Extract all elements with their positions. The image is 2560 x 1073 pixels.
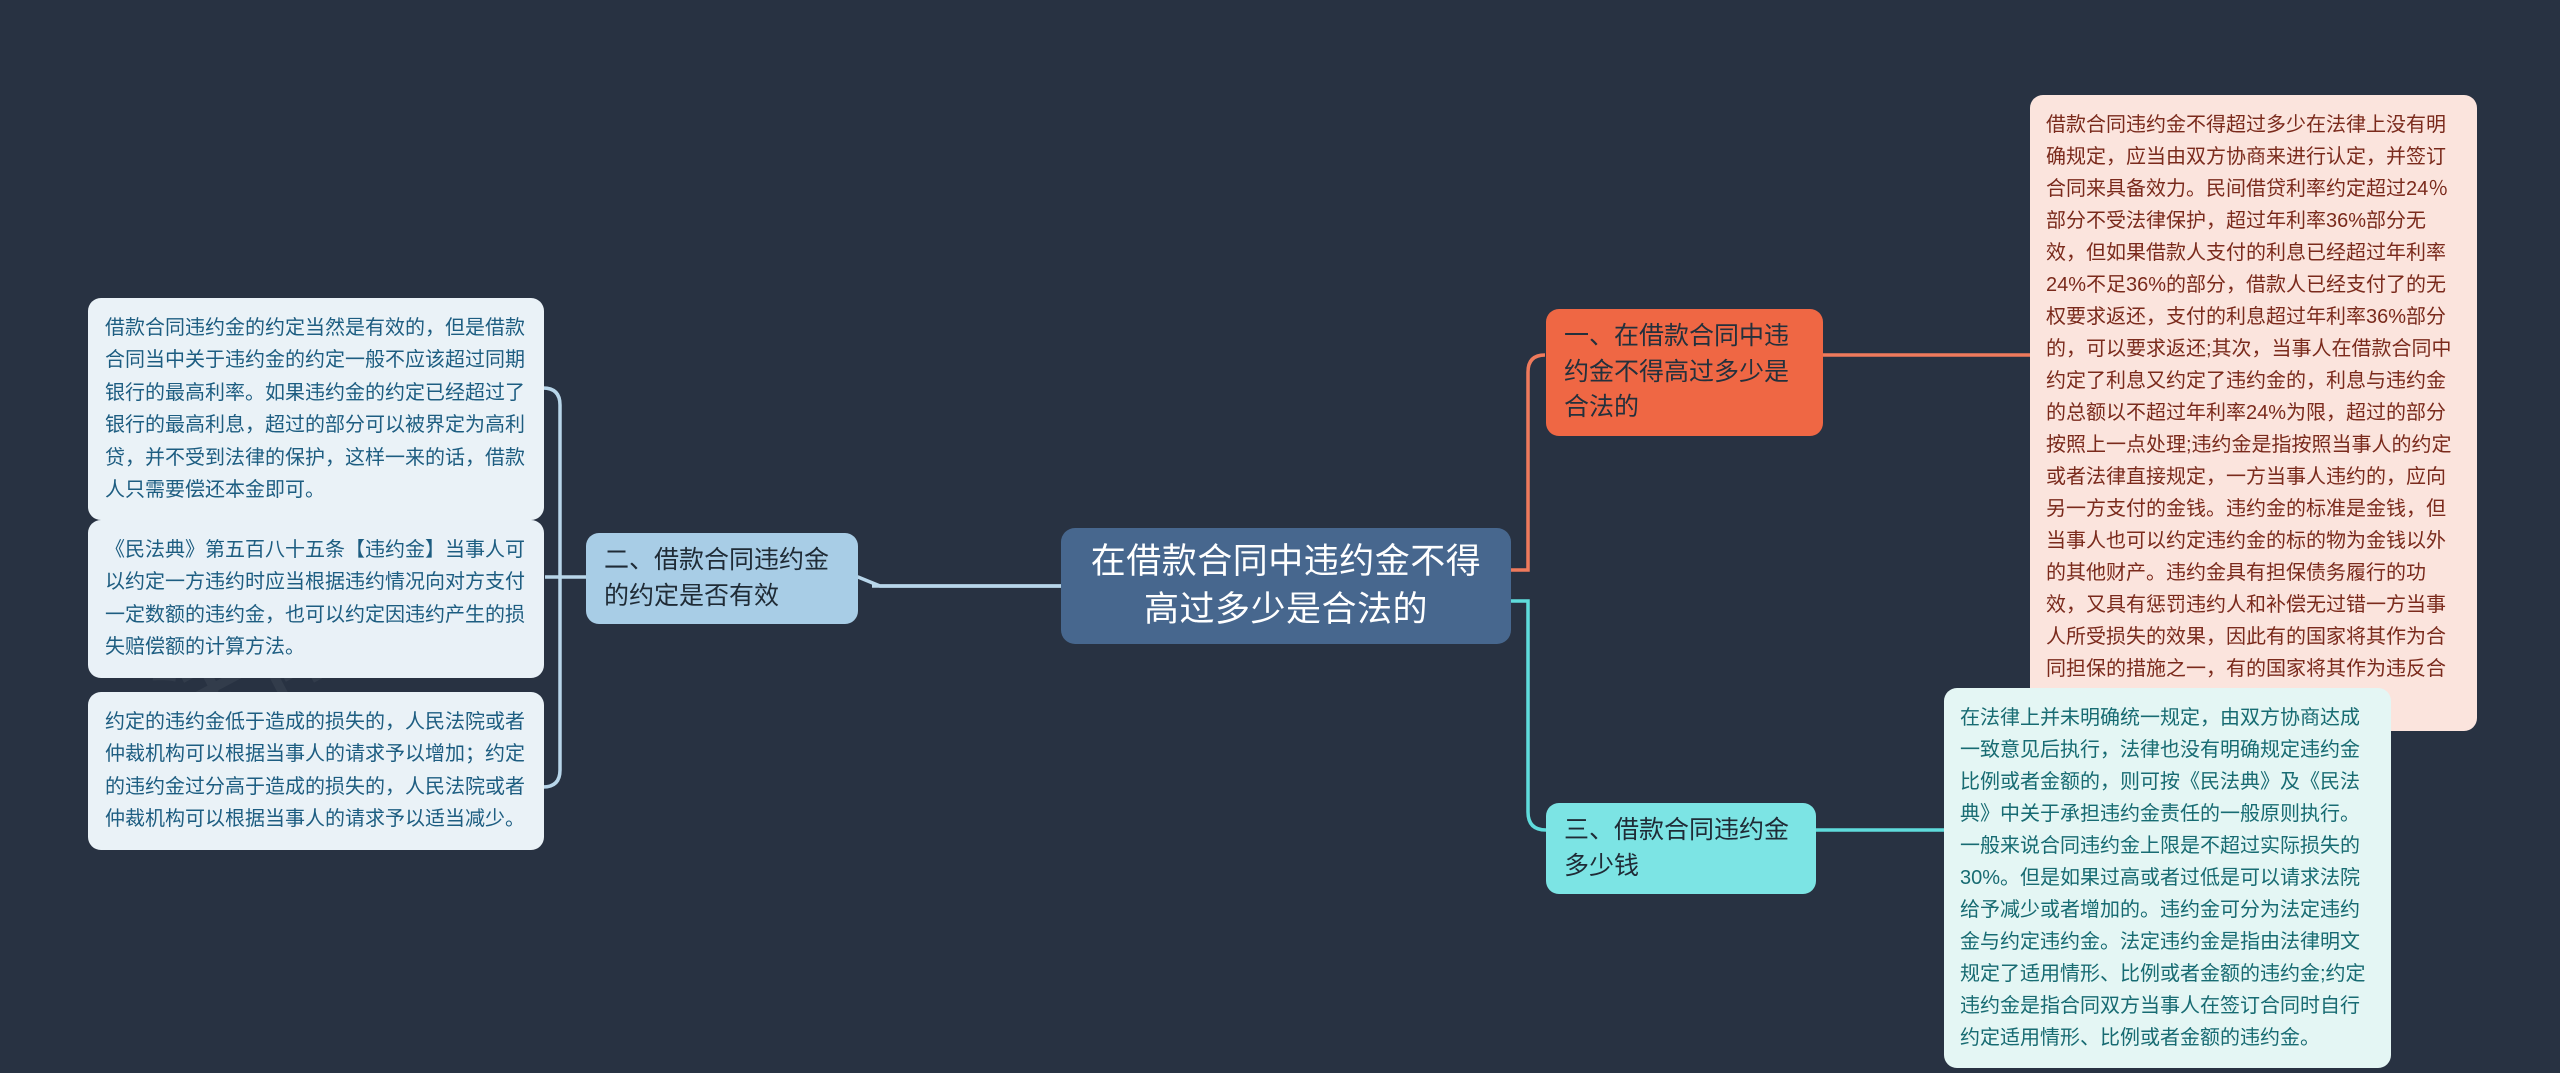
- leaf-card-right-2[interactable]: 在法律上并未明确统一规定，由双方协商达成一致意见后执行，法律也没有明确规定违约金…: [1944, 688, 2391, 1068]
- branch-label: 三、借款合同违约金多少钱: [1564, 813, 1798, 884]
- leaf-text: 《民法典》第五百八十五条【违约金】当事人可以约定一方违约时应当根据违约情况向对方…: [105, 534, 527, 664]
- branch-node-3[interactable]: 三、借款合同违约金多少钱: [1546, 803, 1816, 894]
- leaf-card-left-1[interactable]: 借款合同违约金的约定当然是有效的，但是借款合同当中关于违约金的约定一般不应该超过…: [88, 298, 544, 520]
- branch-node-1[interactable]: 一、在借款合同中违约金不得高过多少是合法的: [1546, 309, 1823, 436]
- leaf-text: 借款合同违约金不得超过多少在法律上没有明确规定，应当由双方协商来进行认定，并签订…: [2046, 109, 2461, 717]
- mindmap-canvas: 512 法律 法律 借款合同违约金的约定当然是有效的，但是借款合同当中关于违约金…: [0, 0, 2560, 1073]
- leaf-card-left-2[interactable]: 《民法典》第五百八十五条【违约金】当事人可以约定一方违约时应当根据违约情况向对方…: [88, 520, 544, 678]
- branch-label: 二、借款合同违约金的约定是否有效: [604, 543, 840, 614]
- leaf-text: 借款合同违约金的约定当然是有效的，但是借款合同当中关于违约金的约定一般不应该超过…: [105, 312, 527, 506]
- branch-node-2[interactable]: 二、借款合同违约金的约定是否有效: [586, 533, 858, 624]
- root-title: 在借款合同中违约金不得高过多少是合法的: [1079, 538, 1493, 635]
- root-node[interactable]: 在借款合同中违约金不得高过多少是合法的: [1061, 528, 1511, 644]
- leaf-text: 约定的违约金低于造成的损失的，人民法院或者仲裁机构可以根据当事人的请求予以增加；…: [105, 706, 527, 836]
- leaf-text: 在法律上并未明确统一规定，由双方协商达成一致意见后执行，法律也没有明确规定违约金…: [1960, 702, 2375, 1054]
- branch-label: 一、在借款合同中违约金不得高过多少是合法的: [1564, 319, 1805, 426]
- leaf-card-right-1[interactable]: 借款合同违约金不得超过多少在法律上没有明确规定，应当由双方协商来进行认定，并签订…: [2030, 95, 2477, 731]
- leaf-card-left-3[interactable]: 约定的违约金低于造成的损失的，人民法院或者仲裁机构可以根据当事人的请求予以增加；…: [88, 692, 544, 850]
